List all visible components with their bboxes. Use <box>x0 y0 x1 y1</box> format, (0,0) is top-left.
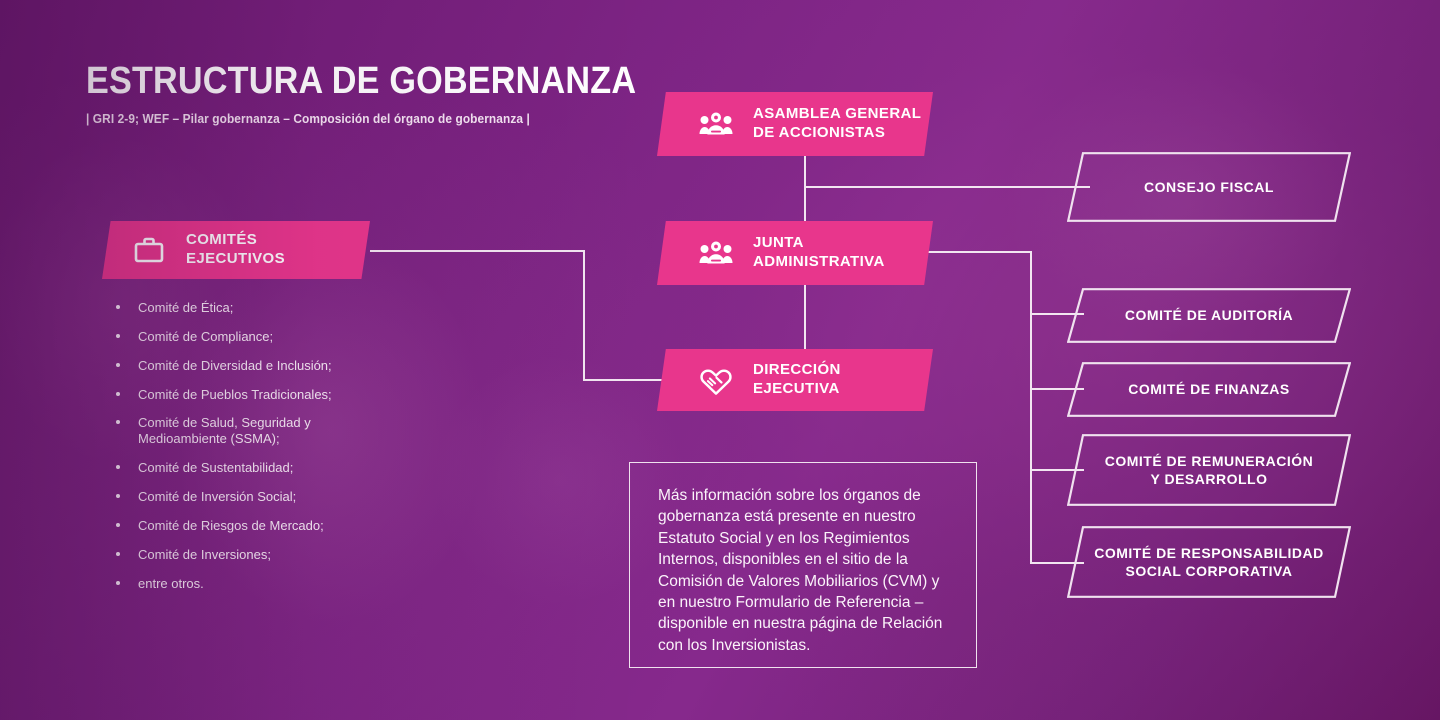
node-label: DIRECCIÓN EJECUTIVA <box>753 361 841 399</box>
bullet-dot <box>116 523 120 527</box>
node-label: CONSEJO FISCAL <box>1067 152 1351 222</box>
list-item: Comité de Compliance; <box>108 329 408 345</box>
node-label: COMITÉ DE FINANZAS <box>1067 362 1351 417</box>
list-item: Comité de Salud, Seguridad y Medioambien… <box>108 415 408 447</box>
list-item-label: Comité de Diversidad e Inclusión; <box>138 358 332 373</box>
people-group-icon <box>699 238 733 268</box>
connector-comites-to-direccion <box>583 379 667 381</box>
list-item: Comité de Ética; <box>108 300 408 316</box>
node-label: COMITÉ DE REMUNERACIÓN Y DESARROLLO <box>1067 434 1351 506</box>
list-item-label: Comité de Inversión Social; <box>138 489 296 504</box>
list-item-label: Comité de Salud, Seguridad y Medioambien… <box>138 415 311 446</box>
connector-to-consejo-fiscal <box>804 186 1090 188</box>
bullet-dot <box>116 581 120 585</box>
committee-list: Comité de Ética; Comité de Compliance; C… <box>108 300 408 604</box>
list-item-label: Comité de Compliance; <box>138 329 273 344</box>
connector-right-trunk <box>1030 251 1032 563</box>
bullet-dot <box>116 363 120 367</box>
briefcase-icon <box>132 235 166 265</box>
list-item: Comité de Inversiones; <box>108 547 408 563</box>
list-item-label: entre otros. <box>138 576 204 591</box>
node-comite-de-responsabilidad-social-corporativa[interactable]: COMITÉ DE RESPONSABILIDAD SOCIAL CORPORA… <box>1067 526 1351 598</box>
bullet-dot <box>116 465 120 469</box>
node-asamblea-general-de-accionistas[interactable]: ASAMBLEA GENERAL DE ACCIONISTAS <box>657 92 933 156</box>
node-label: COMITÉ DE RESPONSABILIDAD SOCIAL CORPORA… <box>1067 526 1351 598</box>
connector-junta-right-stub <box>928 251 1032 253</box>
connector-asamblea-junta <box>804 156 806 224</box>
list-item: Comité de Sustentabilidad; <box>108 460 408 476</box>
people-group-icon <box>699 109 733 139</box>
bullet-dot <box>116 334 120 338</box>
bullet-dot <box>116 552 120 556</box>
list-item-label: Comité de Inversiones; <box>138 547 271 562</box>
list-item: Comité de Riesgos de Mercado; <box>108 518 408 534</box>
node-label: ASAMBLEA GENERAL DE ACCIONISTAS <box>753 105 921 143</box>
bullet-dot <box>116 420 120 424</box>
list-item: Comité de Diversidad e Inclusión; <box>108 358 408 374</box>
node-comite-de-remuneracion-y-desarrollo[interactable]: COMITÉ DE REMUNERACIÓN Y DESARROLLO <box>1067 434 1351 506</box>
list-item: Comité de Pueblos Tradicionales; <box>108 387 408 403</box>
node-comite-de-auditoria[interactable]: COMITÉ DE AUDITORÍA <box>1067 288 1351 343</box>
node-label: JUNTA ADMINISTRATIVA <box>753 234 885 272</box>
bullet-dot <box>116 392 120 396</box>
connector-comites-elbow-vert <box>583 250 585 380</box>
node-consejo-fiscal[interactable]: CONSEJO FISCAL <box>1067 152 1351 222</box>
connector-junta-direccion <box>804 284 806 352</box>
node-label: COMITÉS EJECUTIVOS <box>186 231 285 269</box>
handshake-heart-icon <box>699 365 733 395</box>
node-direccion-ejecutiva[interactable]: DIRECCIÓN EJECUTIVA <box>657 349 933 411</box>
list-item-label: Comité de Pueblos Tradicionales; <box>138 387 332 402</box>
bullet-dot <box>116 494 120 498</box>
list-item: Comité de Inversión Social; <box>108 489 408 505</box>
node-comites-ejecutivos[interactable]: COMITÉS EJECUTIVOS <box>102 221 370 279</box>
info-note-box: Más información sobre los órganos de gob… <box>629 462 977 668</box>
bullet-dot <box>116 305 120 309</box>
node-label: COMITÉ DE AUDITORÍA <box>1067 288 1351 343</box>
list-item: entre otros. <box>108 576 408 592</box>
infographic-canvas: ESTRUCTURA DE GOBERNANZA | GRI 2-9; WEF … <box>0 0 1440 720</box>
connector-comites-elbow-top <box>370 250 585 252</box>
node-junta-administrativa[interactable]: JUNTA ADMINISTRATIVA <box>657 221 933 285</box>
list-item-label: Comité de Ética; <box>138 300 233 315</box>
list-item-label: Comité de Riesgos de Mercado; <box>138 518 324 533</box>
list-item-label: Comité de Sustentabilidad; <box>138 460 293 475</box>
info-note-text: Más información sobre los órganos de gob… <box>658 485 956 656</box>
node-comite-de-finanzas[interactable]: COMITÉ DE FINANZAS <box>1067 362 1351 417</box>
